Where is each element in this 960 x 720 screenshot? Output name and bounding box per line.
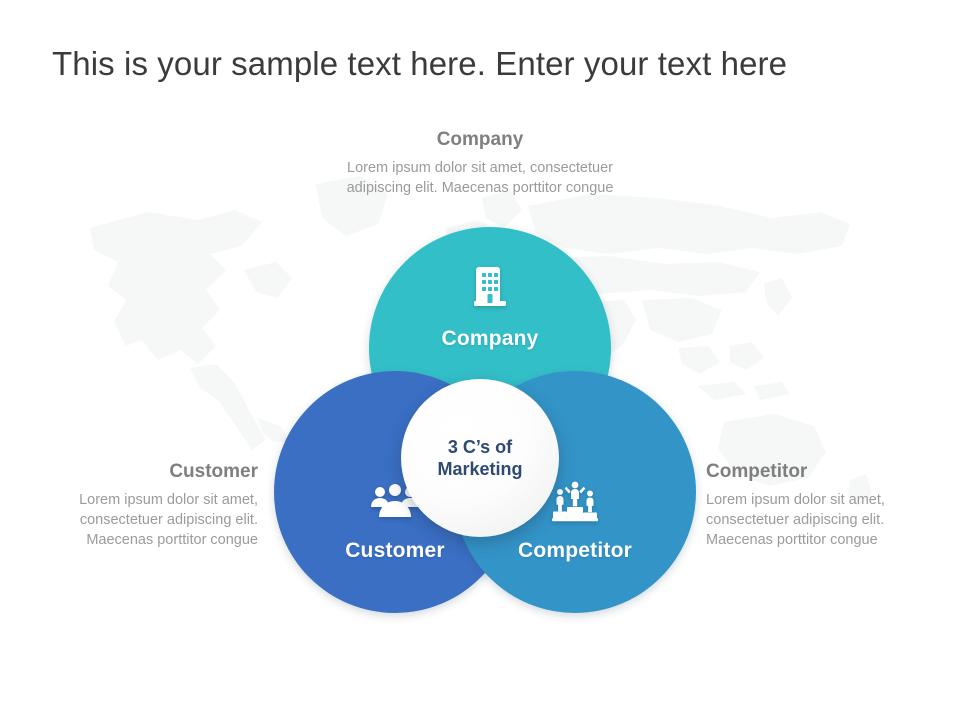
venn-label-company: Company: [441, 327, 538, 351]
office-building-icon: [463, 259, 517, 313]
venn-label-customer: Customer: [345, 539, 445, 563]
info-heading-company: Company: [330, 128, 630, 152]
info-body-competitor: Lorem ipsum dolor sit amet, consectetuer…: [706, 490, 938, 550]
info-block-competitor: Competitor Lorem ipsum dolor sit amet, c…: [706, 460, 938, 550]
center-hub-line2: Marketing: [437, 458, 522, 480]
center-hub-line1: 3 C’s of: [437, 436, 522, 458]
info-heading-customer: Customer: [28, 460, 258, 484]
info-body-customer: Lorem ipsum dolor sit amet, consectetuer…: [28, 490, 258, 550]
info-heading-competitor: Competitor: [706, 460, 938, 484]
center-hub[interactable]: 3 C’s of Marketing: [401, 379, 559, 537]
center-hub-text: 3 C’s of Marketing: [437, 436, 522, 480]
podium-winner-icon: [548, 475, 602, 529]
info-block-company: Company Lorem ipsum dolor sit amet, cons…: [330, 128, 630, 198]
page-title: This is your sample text here. Enter you…: [52, 42, 912, 86]
venn-label-competitor: Competitor: [518, 539, 632, 563]
venn-diagram: Company Customer: [0, 0, 960, 720]
info-body-company: Lorem ipsum dolor sit amet, consectetuer…: [330, 158, 630, 198]
info-block-customer: Customer Lorem ipsum dolor sit amet, con…: [28, 460, 258, 550]
